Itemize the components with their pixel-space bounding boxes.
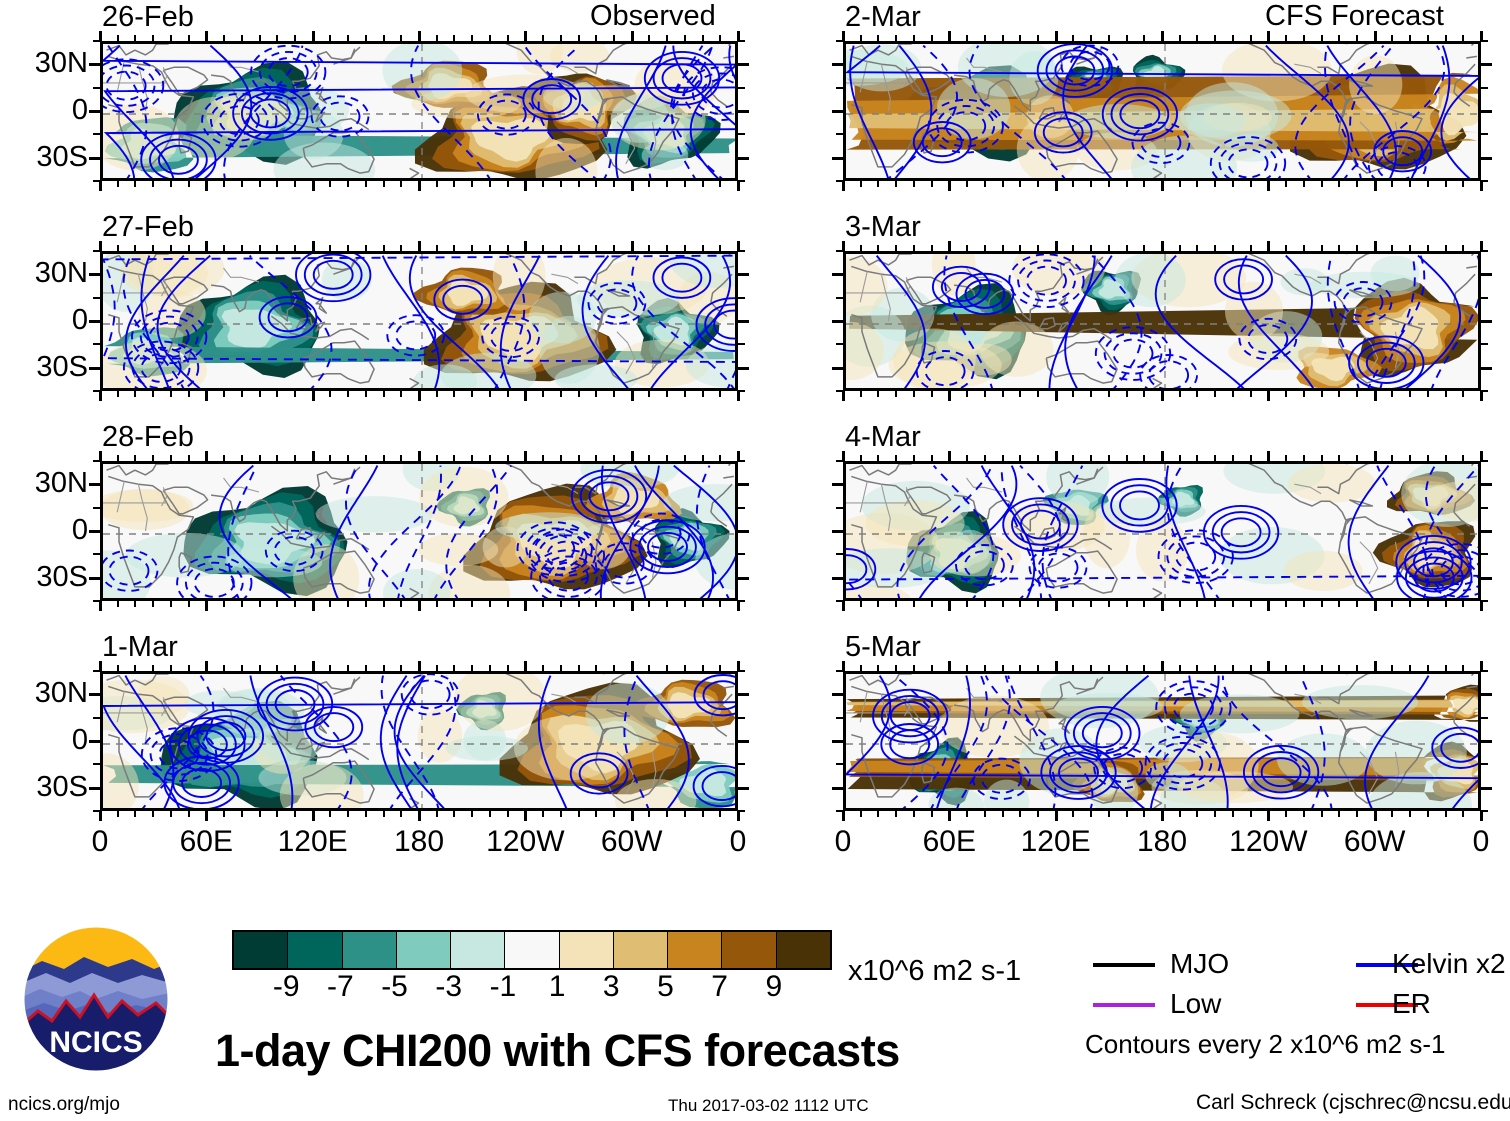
x-tick	[1090, 181, 1092, 187]
y-ticklabel-30s: 30S	[0, 563, 88, 592]
y-tick	[832, 483, 843, 486]
x-ticklabel-120w-col2: 120W	[1208, 827, 1328, 857]
x-tick	[365, 811, 367, 817]
x-tick	[702, 35, 704, 41]
colorbar-segment-1	[287, 932, 341, 968]
colorbar-segment-0	[234, 932, 287, 968]
x-tick	[347, 35, 349, 41]
y-tick	[836, 87, 843, 89]
x-tick	[877, 811, 879, 817]
x-tick	[223, 665, 225, 671]
x-tick	[1090, 601, 1092, 607]
x-tick	[984, 601, 986, 607]
x-tick	[400, 35, 402, 41]
y-tick	[738, 577, 749, 580]
y-tick	[832, 63, 843, 66]
x-tick	[400, 245, 402, 251]
y-tick	[1481, 717, 1488, 719]
x-tick	[613, 665, 615, 671]
x-tick	[648, 455, 650, 461]
x-tick	[489, 665, 491, 671]
x-tick	[1002, 245, 1004, 251]
x-tick	[223, 811, 225, 817]
x-tick	[1019, 245, 1021, 251]
x-tick	[1462, 455, 1464, 461]
x-tick	[1019, 181, 1021, 187]
map-panel-2-mar	[843, 41, 1481, 181]
x-tick	[400, 455, 402, 461]
x-tick	[1090, 811, 1092, 817]
x-tick	[702, 181, 704, 187]
x-tick	[702, 665, 704, 671]
y-tick	[89, 63, 100, 66]
x-tick	[1055, 391, 1058, 401]
x-tick	[1126, 665, 1128, 671]
x-tick	[524, 661, 527, 671]
x-tick	[542, 811, 544, 817]
x-tick	[1267, 451, 1270, 461]
y-tick	[832, 577, 843, 580]
x-tick	[737, 181, 740, 191]
y-tick	[89, 110, 100, 113]
x-ticklabel-0-col1: 0	[40, 827, 160, 857]
y-tick	[832, 157, 843, 160]
colorbar-units: x10^6 m2 s-1	[848, 957, 1021, 986]
x-tick	[436, 245, 438, 251]
x-tick	[294, 245, 296, 251]
x-tick	[1250, 245, 1252, 251]
x-tick	[1214, 245, 1216, 251]
x-tick	[524, 451, 527, 461]
x-tick	[1072, 601, 1074, 607]
x-tick	[1214, 391, 1216, 397]
x-tick	[1037, 391, 1039, 397]
x-tick	[241, 665, 243, 671]
x-tick	[453, 665, 455, 671]
x-tick	[347, 181, 349, 187]
x-tick	[931, 245, 933, 251]
x-tick	[170, 35, 172, 41]
y-tick	[93, 87, 100, 89]
x-tick	[1427, 665, 1429, 671]
x-tick	[1250, 601, 1252, 607]
x-tick	[400, 391, 402, 397]
y-tick	[836, 133, 843, 135]
x-tick	[152, 455, 154, 461]
x-tick	[877, 665, 879, 671]
x-tick	[276, 181, 278, 187]
y-tick	[93, 180, 100, 182]
x-tick	[312, 31, 315, 41]
y-tick	[93, 810, 100, 812]
x-ticklabel-60w-col2: 60W	[1315, 827, 1435, 857]
x-tick	[948, 661, 951, 671]
x-tick	[489, 181, 491, 187]
x-tick	[489, 391, 491, 397]
x-tick	[1409, 245, 1411, 251]
x-tick	[524, 181, 527, 191]
x-tick	[1356, 601, 1358, 607]
x-tick	[1055, 181, 1058, 191]
x-tick	[347, 601, 349, 607]
x-tick	[578, 455, 580, 461]
x-tick	[259, 181, 261, 187]
site-url[interactable]: ncics.org/mjo	[8, 1095, 120, 1114]
x-tick	[400, 181, 402, 187]
x-tick	[1267, 811, 1270, 821]
x-tick	[877, 35, 879, 41]
x-tick	[666, 811, 668, 817]
x-tick	[966, 601, 968, 607]
x-tick	[347, 665, 349, 671]
x-tick	[719, 35, 721, 41]
y-tick	[738, 740, 749, 743]
x-tick	[241, 391, 243, 397]
panel-title-1-mar: 1-Mar	[102, 633, 178, 662]
x-tick	[595, 665, 597, 671]
x-tick	[436, 35, 438, 41]
x-tick	[1480, 811, 1483, 821]
x-tick	[1214, 455, 1216, 461]
x-tick	[241, 601, 243, 607]
y-tick	[1481, 157, 1492, 160]
x-tick	[205, 661, 208, 671]
y-ticklabel-30n: 30N	[0, 49, 88, 78]
x-tick	[737, 391, 740, 401]
x-tick	[453, 391, 455, 397]
x-tick	[1285, 181, 1287, 187]
y-tick	[832, 530, 843, 533]
x-tick	[1285, 391, 1287, 397]
x-tick	[1072, 245, 1074, 251]
x-tick	[560, 245, 562, 251]
colorbar	[232, 930, 832, 970]
y-tick	[93, 507, 100, 509]
x-tick	[948, 811, 951, 821]
x-tick	[1391, 811, 1393, 817]
x-tick	[117, 35, 119, 41]
y-tick	[738, 320, 749, 323]
legend-label-mjo: MJO	[1170, 950, 1229, 978]
x-tick	[1374, 451, 1377, 461]
x-tick	[1108, 601, 1110, 607]
x-tick	[1090, 391, 1092, 397]
x-tick	[294, 811, 296, 817]
x-tick	[1019, 811, 1021, 817]
x-tick	[418, 31, 421, 41]
x-tick	[1055, 451, 1058, 461]
x-tick	[719, 665, 721, 671]
y-tick	[93, 600, 100, 602]
map-panel-3-mar	[843, 251, 1481, 391]
x-tick	[613, 391, 615, 397]
y-tick	[836, 763, 843, 765]
x-tick	[1250, 665, 1252, 671]
x-tick	[966, 665, 968, 671]
x-tick	[507, 35, 509, 41]
x-tick	[1179, 665, 1181, 671]
x-tick	[877, 391, 879, 397]
x-ticklabel-120e-col2: 120E	[996, 827, 1116, 857]
x-tick	[1002, 181, 1004, 187]
x-tick	[418, 391, 421, 401]
x-tick	[489, 455, 491, 461]
x-tick	[489, 245, 491, 251]
x-tick	[984, 391, 986, 397]
x-tick	[1409, 601, 1411, 607]
x-tick	[117, 181, 119, 187]
x-tick	[1002, 35, 1004, 41]
x-tick	[471, 245, 473, 251]
x-tick	[684, 35, 686, 41]
x-tick	[542, 455, 544, 461]
x-tick	[1232, 665, 1234, 671]
x-tick	[205, 241, 208, 251]
x-tick	[152, 245, 154, 251]
panel-title-27-feb: 27-Feb	[102, 213, 194, 242]
y-tick	[1481, 273, 1492, 276]
x-tick	[895, 601, 897, 607]
x-tick	[1338, 811, 1340, 817]
x-tick	[984, 245, 986, 251]
x-tick	[877, 181, 879, 187]
legend-swatch-mjo	[1093, 963, 1155, 967]
x-tick	[931, 181, 933, 187]
x-tick	[560, 665, 562, 671]
x-tick	[666, 391, 668, 397]
x-tick	[1338, 391, 1340, 397]
x-tick	[365, 245, 367, 251]
x-tick	[1019, 665, 1021, 671]
x-tick	[418, 661, 421, 671]
x-tick	[913, 601, 915, 607]
y-ticklabel-0: 0	[0, 516, 88, 545]
x-tick	[329, 181, 331, 187]
x-tick	[1002, 811, 1004, 817]
x-tick	[948, 31, 951, 41]
colorbar-segment-2	[342, 932, 396, 968]
x-tick	[436, 811, 438, 817]
x-tick	[1338, 601, 1340, 607]
x-tick	[524, 31, 527, 41]
x-tick	[560, 35, 562, 41]
x-ticklabel-0-col2: 0	[783, 827, 903, 857]
x-tick	[719, 811, 721, 817]
y-tick	[832, 787, 843, 790]
colorbar-segment-4	[450, 932, 504, 968]
x-tick	[1196, 811, 1198, 817]
x-tick	[966, 391, 968, 397]
x-tick	[613, 455, 615, 461]
x-tick	[1196, 455, 1198, 461]
x-ticklabel-0-col1: 0	[678, 827, 798, 857]
x-tick	[1303, 665, 1305, 671]
x-tick	[1321, 35, 1323, 41]
x-tick	[966, 35, 968, 41]
x-tick	[205, 811, 208, 821]
x-tick	[1321, 455, 1323, 461]
y-tick	[738, 763, 745, 765]
x-tick	[1480, 601, 1483, 611]
x-tick	[1179, 455, 1181, 461]
x-tick	[524, 811, 527, 821]
x-tick	[1250, 811, 1252, 817]
x-tick	[152, 391, 154, 397]
x-tick	[1126, 601, 1128, 607]
x-tick	[1019, 455, 1021, 461]
x-tick	[1232, 601, 1234, 607]
x-tick	[1338, 665, 1340, 671]
x-tick	[1427, 245, 1429, 251]
y-tick	[93, 133, 100, 135]
x-tick	[223, 181, 225, 187]
x-tick	[99, 181, 102, 191]
y-ticklabel-30s: 30S	[0, 143, 88, 172]
x-tick	[1462, 391, 1464, 397]
x-tick	[1143, 245, 1145, 251]
x-tick	[1232, 181, 1234, 187]
x-tick	[1427, 811, 1429, 817]
x-tick	[453, 181, 455, 187]
y-tick	[738, 717, 745, 719]
y-tick	[89, 367, 100, 370]
x-tick	[294, 665, 296, 671]
x-tick	[1161, 241, 1164, 251]
map-canvas	[103, 674, 738, 811]
x-tick	[152, 811, 154, 817]
x-tick	[188, 181, 190, 187]
x-tick	[913, 35, 915, 41]
x-tick	[1321, 391, 1323, 397]
x-tick	[578, 601, 580, 607]
x-tick	[984, 665, 986, 671]
x-tick	[1250, 455, 1252, 461]
x-tick	[312, 451, 315, 461]
x-tick	[1391, 455, 1393, 461]
x-tick	[1072, 455, 1074, 461]
x-tick	[684, 245, 686, 251]
x-tick	[895, 35, 897, 41]
x-tick	[578, 811, 580, 817]
x-tick	[1037, 811, 1039, 817]
x-tick	[931, 811, 933, 817]
x-tick	[948, 451, 951, 461]
y-tick	[836, 460, 843, 462]
y-ticklabel-30s: 30S	[0, 353, 88, 382]
x-tick	[383, 35, 385, 41]
x-tick	[1002, 601, 1004, 607]
x-tick	[294, 181, 296, 187]
y-ticklabel-30s: 30S	[0, 773, 88, 802]
x-tick	[1161, 391, 1164, 401]
x-tick	[737, 811, 740, 821]
y-tick	[738, 297, 745, 299]
x-tick	[1374, 31, 1377, 41]
x-tick	[1374, 241, 1377, 251]
x-tick	[1108, 391, 1110, 397]
x-tick	[1356, 811, 1358, 817]
x-tick	[1338, 35, 1340, 41]
x-tick	[312, 181, 315, 191]
x-tick	[1143, 455, 1145, 461]
panel-title-3-mar: 3-Mar	[845, 213, 921, 242]
x-tick	[1002, 665, 1004, 671]
x-tick	[684, 181, 686, 187]
x-tick	[312, 391, 315, 401]
x-tick	[1391, 181, 1393, 187]
x-tick	[560, 455, 562, 461]
x-tick	[471, 455, 473, 461]
x-tick	[931, 391, 933, 397]
x-tick	[1480, 181, 1483, 191]
x-tick	[471, 391, 473, 397]
x-tick	[383, 601, 385, 607]
x-tick	[347, 391, 349, 397]
x-tick	[1143, 601, 1145, 607]
x-tick	[1072, 811, 1074, 817]
y-tick	[738, 670, 745, 672]
y-tick	[836, 670, 843, 672]
x-tick	[259, 245, 261, 251]
panel-title-26-feb: 26-Feb	[102, 3, 194, 32]
x-tick	[1303, 35, 1305, 41]
x-tick	[1179, 601, 1181, 607]
y-tick	[836, 507, 843, 509]
x-tick	[1285, 35, 1287, 41]
x-ticklabel-60e-col1: 60E	[146, 827, 266, 857]
y-ticklabel-30n: 30N	[0, 259, 88, 288]
x-tick	[1161, 811, 1164, 821]
x-tick	[383, 665, 385, 671]
x-tick	[312, 601, 315, 611]
x-tick	[666, 35, 668, 41]
x-tick	[1143, 811, 1145, 817]
x-tick	[842, 181, 845, 191]
x-tick	[383, 245, 385, 251]
x-tick	[1285, 455, 1287, 461]
map-panel-26-feb	[100, 41, 738, 181]
y-ticklabel-30n: 30N	[0, 469, 88, 498]
x-tick	[631, 811, 634, 821]
x-tick	[329, 35, 331, 41]
ncics-logo: NCICS	[22, 925, 170, 1073]
x-tick	[1108, 811, 1110, 817]
x-tick	[595, 391, 597, 397]
x-tick	[259, 455, 261, 461]
y-tick	[1481, 320, 1492, 323]
x-tick	[1232, 245, 1234, 251]
x-tick	[1462, 245, 1464, 251]
x-tick	[984, 455, 986, 461]
x-tick	[1321, 601, 1323, 607]
x-tick	[595, 601, 597, 607]
x-tick	[1462, 35, 1464, 41]
x-tick	[684, 811, 686, 817]
x-tick	[436, 181, 438, 187]
x-tick	[1196, 601, 1198, 607]
x-tick	[524, 391, 527, 401]
y-tick	[836, 717, 843, 719]
x-tick	[1250, 35, 1252, 41]
y-tick	[738, 63, 749, 66]
colorbar-segment-10	[776, 932, 830, 968]
x-tick	[1037, 601, 1039, 607]
x-tick	[294, 35, 296, 41]
x-tick	[1338, 181, 1340, 187]
x-tick	[948, 601, 951, 611]
x-tick	[895, 665, 897, 671]
x-tick	[134, 245, 136, 251]
